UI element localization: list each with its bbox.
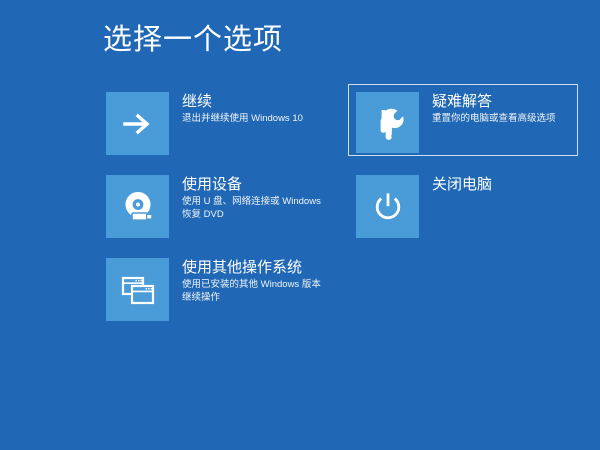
power-icon (371, 190, 405, 224)
option-title: 使用其他操作系统 (182, 259, 328, 277)
option-tile (106, 258, 169, 321)
option-labels: 继续 退出并继续使用 Windows 10 (169, 92, 328, 126)
option-subtitle: 重置你的电脑或查看高级选项 (432, 113, 578, 126)
page-title: 选择一个选项 (103, 22, 283, 58)
option-title: 疑难解答 (432, 93, 578, 111)
option-tile (356, 92, 419, 155)
option-use-another-os[interactable]: 使用其他操作系统 使用已安装的其他 Windows 版本继续操作 (106, 258, 328, 321)
option-labels: 疑难解答 重置你的电脑或查看高级选项 (419, 92, 578, 126)
option-tile (106, 92, 169, 155)
wrench-screwdriver-icon (371, 106, 405, 142)
option-title: 关闭电脑 (432, 176, 578, 194)
option-subtitle: 使用已安装的其他 Windows 版本继续操作 (182, 279, 328, 304)
option-tile (356, 175, 419, 238)
option-troubleshoot[interactable]: 疑难解答 重置你的电脑或查看高级选项 (356, 92, 578, 155)
option-title: 使用设备 (182, 176, 328, 194)
option-labels: 使用其他操作系统 使用已安装的其他 Windows 版本继续操作 (169, 258, 328, 304)
option-turn-off-pc[interactable]: 关闭电脑 (356, 175, 578, 238)
arrow-right-icon (121, 107, 155, 141)
option-tile (106, 175, 169, 238)
windows-stack-icon (120, 273, 156, 307)
option-labels: 关闭电脑 (419, 175, 578, 196)
option-title: 继续 (182, 93, 328, 111)
option-continue[interactable]: 继续 退出并继续使用 Windows 10 (106, 92, 328, 155)
disc-usb-icon (120, 189, 156, 225)
options-column-left: 继续 退出并继续使用 Windows 10 使用设备 (106, 92, 328, 341)
choose-an-option-screen: 选择一个选项 继续 退出并继续使用 Windows 10 (0, 0, 600, 450)
option-use-a-device[interactable]: 使用设备 使用 U 盘、网络连接或 Windows 恢复 DVD (106, 175, 328, 238)
option-labels: 使用设备 使用 U 盘、网络连接或 Windows 恢复 DVD (169, 175, 328, 221)
option-subtitle: 退出并继续使用 Windows 10 (182, 113, 328, 126)
option-subtitle: 使用 U 盘、网络连接或 Windows 恢复 DVD (182, 196, 328, 221)
options-column-right: 疑难解答 重置你的电脑或查看高级选项 关闭电脑 (356, 92, 578, 258)
